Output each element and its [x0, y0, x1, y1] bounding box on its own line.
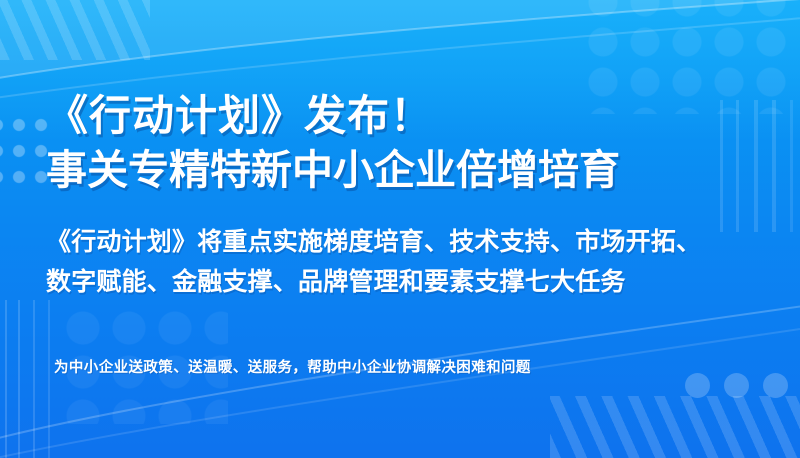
- banner-content: 《行动计划》发布！ 事关专精特新中小企业倍增培育 《行动计划》将重点实施梯度培育…: [0, 0, 800, 458]
- subtext-line-1: 《行动计划》将重点实施梯度培育、技术支持、市场开拓、: [46, 222, 701, 262]
- subtext: 《行动计划》将重点实施梯度培育、技术支持、市场开拓、 数字赋能、金融支撑、品牌管…: [46, 222, 701, 302]
- headline-line-1: 《行动计划》发布！: [46, 88, 620, 143]
- headline: 《行动计划》发布！ 事关专精特新中小企业倍增培育: [46, 88, 620, 198]
- subtext-line-2: 数字赋能、金融支撑、品牌管理和要素支撑七大任务: [46, 262, 701, 302]
- headline-line-2: 事关专精特新中小企业倍增培育: [46, 143, 620, 198]
- promotional-banner: 《行动计划》发布！ 事关专精特新中小企业倍增培育 《行动计划》将重点实施梯度培育…: [0, 0, 800, 458]
- caption-text: 为中小企业送政策、送温暖、送服务，帮助中小企业协调解决困难和问题: [54, 356, 531, 377]
